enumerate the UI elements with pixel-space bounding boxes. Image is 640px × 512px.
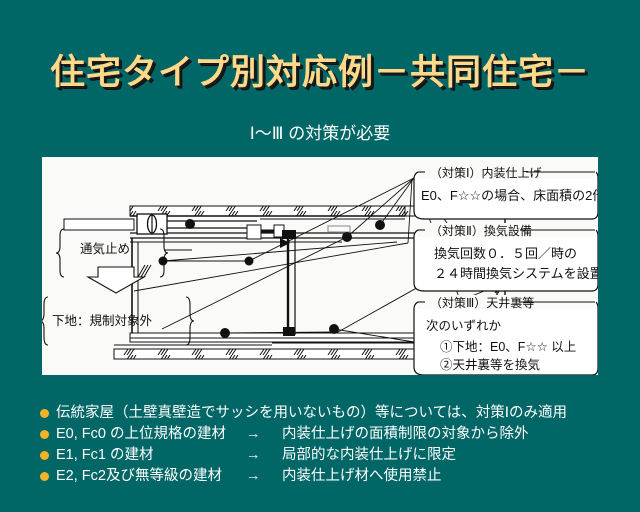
bullet-result: 内装仕上げ材へ使用禁止 — [282, 466, 442, 487]
callout-2-line-2: ２４時間換気システムを設置 — [434, 266, 598, 281]
page-title: 住宅タイプ別対応例－共同住宅－ — [0, 44, 640, 95]
bullet-text: E2, Fc2及び無等級の建材 — [56, 466, 246, 487]
slide-canvas: 住宅タイプ別対応例－共同住宅－ Ⅰ～Ⅲ の対策が必要 — [0, 0, 640, 512]
bullet-text: 伝統家屋（土壁真壁造でサッシを用いないもの）等については、対策Ⅰのみ適用 — [56, 403, 567, 424]
callout-1-header: （対策Ⅰ）内装仕上げ — [430, 166, 542, 180]
figure-panel: 通気止め 下地：規制対象外 — [42, 157, 598, 375]
duct-node — [185, 219, 195, 229]
bullet-item: E0, Fc0 の上位規格の建材 → 内装仕上げの面積制限の対象から除外 — [40, 424, 640, 445]
callout-2-header: （対策Ⅱ）換気設備 — [430, 223, 532, 238]
bullet-item: E2, Fc2及び無等級の建材 → 内装仕上げ材へ使用禁止 — [40, 466, 640, 487]
bullet-marker-icon — [40, 409, 49, 418]
arrow-icon: → — [246, 424, 282, 445]
ventilation-duct — [64, 214, 350, 239]
bullet-list: 伝統家屋（土壁真壁造でサッシを用いないもの）等については、対策Ⅰのみ適用 E0,… — [40, 403, 640, 487]
callout-3-header: （対策Ⅲ）天井裏等 — [430, 295, 534, 310]
callout-2-line-1: 換気回数０．５回／時の — [434, 246, 577, 261]
arrow-icon: → — [246, 445, 282, 466]
bullet-marker-icon — [40, 430, 49, 439]
bullet-result: 内装仕上げの面積制限の対象から除外 — [282, 424, 529, 445]
callout-3-line-2: ①下地：E0、F☆☆ 以上 — [440, 340, 576, 354]
arrow-icon: → — [246, 466, 282, 487]
bullet-result: 局部的な内装仕上げに限定 — [282, 445, 456, 466]
callout-1-line-1: E0、F☆☆の場合、床面積の2倍まで — [421, 188, 598, 203]
bullet-marker-icon — [40, 472, 49, 481]
bullet-item: E1, Fc1 の建材 → 局部的な内装仕上げに限定 — [40, 445, 640, 466]
callout-3-line-1: 次のいずれか — [426, 319, 502, 333]
callout-3-line-3: ②天井裏等を換気 — [440, 357, 540, 372]
bullet-item: 伝統家屋（土壁真壁造でサッシを用いないもの）等については、対策Ⅰのみ適用 — [40, 403, 640, 424]
page-subtitle: Ⅰ～Ⅲ の対策が必要 — [0, 119, 640, 144]
bullet-marker-icon — [40, 451, 49, 460]
bullet-text: E0, Fc0 の上位規格の建材 — [56, 424, 246, 445]
svg-text:通気止め: 通気止め — [80, 241, 130, 256]
bullet-text: E1, Fc1 の建材 — [56, 445, 246, 466]
down-arrow-icon — [88, 267, 144, 293]
svg-text:下地：規制対象外: 下地：規制対象外 — [52, 313, 153, 328]
